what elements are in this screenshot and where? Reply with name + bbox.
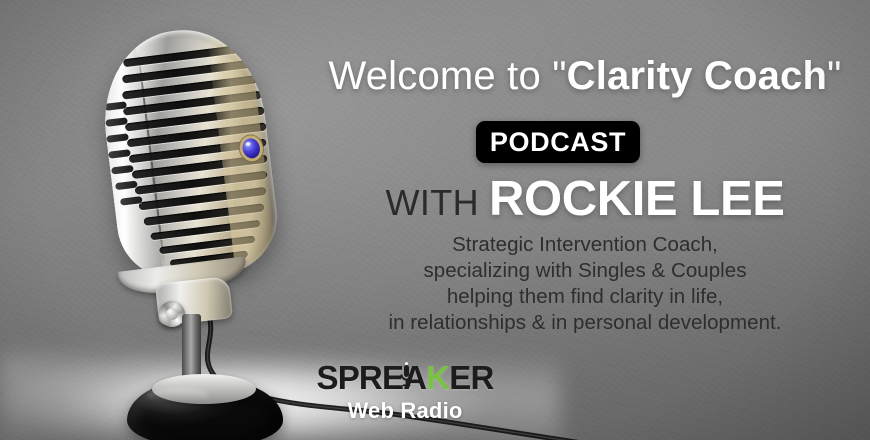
spreaker-word-part2: ER bbox=[449, 359, 493, 396]
podcast-cover-poster: Welcome to "Clarity Coach" PODCAST WITHR… bbox=[0, 0, 870, 440]
microphone-illustration bbox=[95, 18, 325, 438]
host-line: WITHROCKIE LEE bbox=[300, 171, 870, 227]
microphone-grille bbox=[117, 39, 284, 273]
microphone-head bbox=[94, 21, 283, 287]
podcast-badge: PODCAST bbox=[476, 121, 640, 163]
spreaker-logo[interactable]: SPREAKER Web Radio bbox=[300, 360, 510, 430]
title-prefix: Welcome to " bbox=[328, 54, 566, 98]
spreaker-subtitle: Web Radio bbox=[300, 398, 510, 424]
description-line: specializing with Singles & Couples bbox=[300, 258, 870, 284]
spreaker-k-letter: K bbox=[426, 359, 449, 396]
description-line: in relationships & in personal developme… bbox=[300, 310, 870, 336]
description-line: helping them find clarity in life, bbox=[300, 284, 870, 310]
page-title: Welcome to "Clarity Coach" bbox=[300, 54, 870, 99]
with-label: WITH bbox=[385, 182, 479, 223]
microphone-base-highlight bbox=[147, 388, 209, 402]
podcast-badge-label: PODCAST bbox=[490, 127, 626, 158]
spreaker-wordmark: SPREAKER bbox=[300, 360, 510, 396]
title-suffix: " bbox=[827, 54, 841, 98]
description-line: Strategic Intervention Coach, bbox=[300, 232, 870, 258]
title-show-name: Clarity Coach bbox=[567, 54, 827, 98]
description-block: Strategic Intervention Coach, specializi… bbox=[300, 232, 870, 336]
host-name: ROCKIE LEE bbox=[489, 172, 784, 226]
spreaker-word-part1: SPREA bbox=[317, 359, 427, 396]
